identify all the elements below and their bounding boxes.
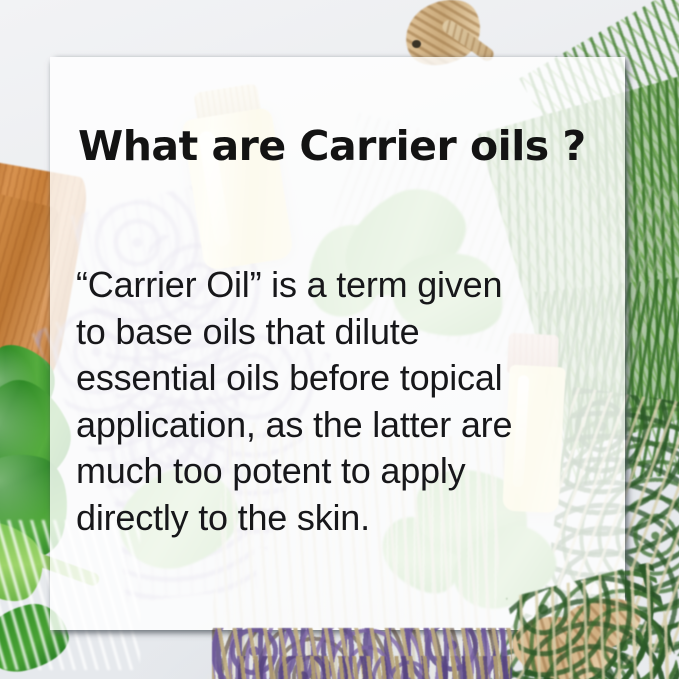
body-line: to base oils that dilute (76, 309, 621, 356)
card-body-text: “Carrier Oil” is a term given to base oi… (76, 262, 621, 541)
body-line: much too potent to apply (76, 448, 621, 495)
card-text-layer: What are Carrier oils ? “Carrier Oil” is… (0, 0, 679, 679)
body-line: directly to the skin. (76, 495, 621, 542)
body-line: application, as the latter are (76, 402, 621, 449)
card-heading: What are Carrier oils ? (78, 122, 618, 170)
body-line: essential oils before topical (76, 355, 621, 402)
infographic-canvas: What are Carrier oils ? “Carrier Oil” is… (0, 0, 679, 679)
body-line: “Carrier Oil” is a term given (76, 262, 621, 309)
